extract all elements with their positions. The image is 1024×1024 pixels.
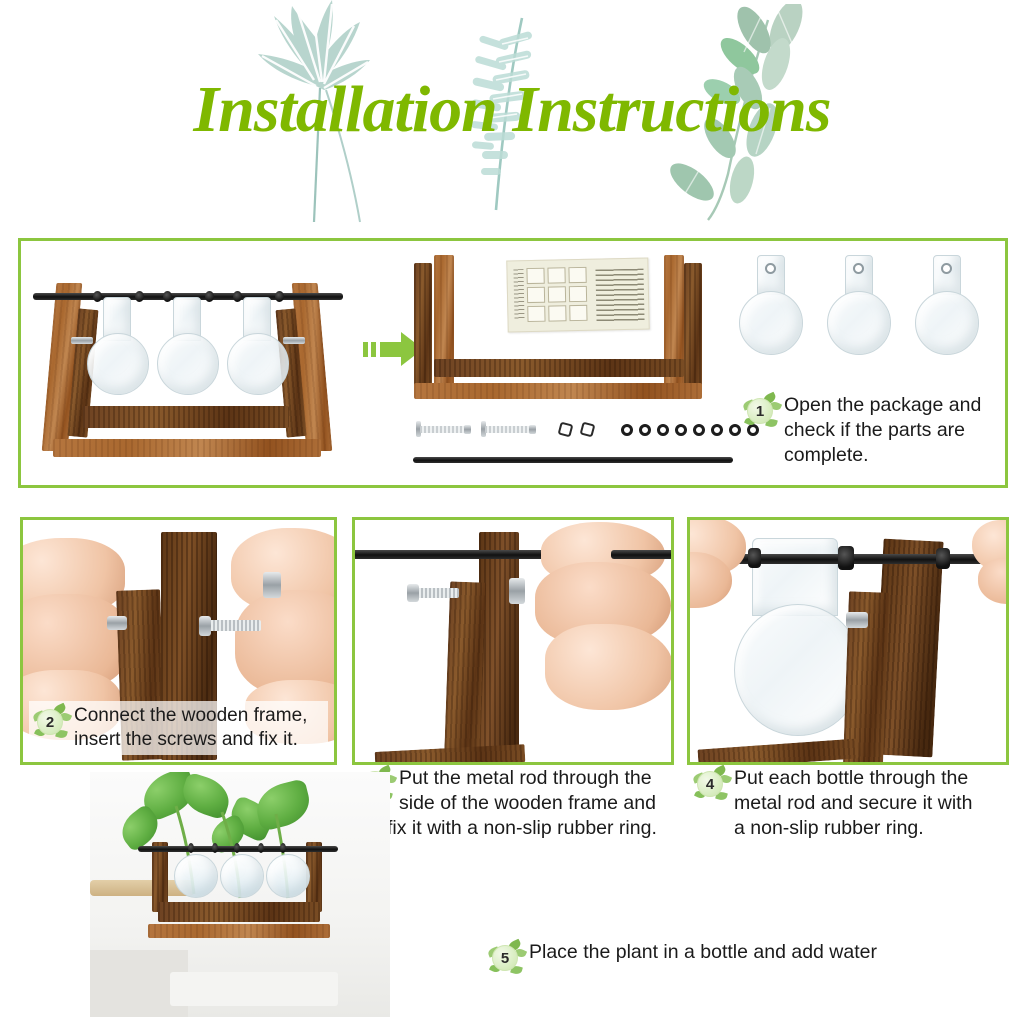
panel-parts-overview: 1 Open the package and check if the part…	[18, 238, 1008, 488]
step-5-text: Place the plant in a bottle and add wate…	[529, 940, 877, 965]
bottle-part	[827, 255, 891, 361]
rubber-ring	[748, 548, 761, 568]
installation-instruction-card	[506, 258, 649, 333]
step-4-photo	[690, 520, 1006, 762]
step-number: 1	[747, 398, 773, 424]
rubber-ring-part	[693, 424, 705, 436]
step-5-caption: 5 Place the plant in a bottle and add wa…	[488, 940, 877, 975]
panel-step-4	[687, 517, 1009, 765]
hardware-parts-row	[416, 417, 726, 445]
rubber-ring	[936, 548, 950, 569]
rubber-ring-part	[621, 424, 633, 436]
leaf-number-badge-icon: 1	[743, 394, 777, 428]
step-number: 2	[37, 709, 63, 735]
step-2-text: Connect the wooden frame, insert the scr…	[74, 704, 307, 752]
assembled-product-illustration	[31, 261, 346, 466]
leaf-number-badge-icon: 4	[693, 767, 727, 801]
nut-part	[558, 422, 574, 438]
leaf-number-badge-icon: 2	[33, 705, 67, 739]
step-3-photo	[355, 520, 671, 762]
step-3-text: Put the metal rod through the side of th…	[399, 766, 657, 841]
rubber-ring	[838, 546, 854, 570]
leaf-number-badge-icon: 5	[488, 941, 522, 975]
step-3-caption: 3 Put the metal rod through the side of …	[358, 766, 678, 841]
page-title: Installation Instructions	[0, 72, 1024, 148]
panel-step-2: 2 Connect the wooden frame, insert the s…	[20, 517, 337, 765]
step-4-text: Put each bottle through the metal rod an…	[734, 766, 972, 841]
rubber-ring-part	[657, 424, 669, 436]
panel-step-3	[352, 517, 674, 765]
rubber-ring-part	[711, 424, 723, 436]
step-5-photo	[90, 772, 390, 1017]
header-banner: Installation Instructions	[0, 0, 1024, 232]
metal-rod	[700, 554, 1009, 564]
step-number: 5	[492, 945, 518, 971]
bottle-part	[915, 255, 979, 361]
rubber-ring-part	[639, 424, 651, 436]
rubber-ring-part	[675, 424, 687, 436]
step-1-text: Open the package and check if the parts …	[784, 393, 981, 468]
step-4-caption: 4 Put each bottle through the metal rod …	[693, 766, 1013, 841]
bottle-part	[739, 255, 803, 361]
step-2-caption: 2 Connect the wooden frame, insert the s…	[29, 701, 328, 755]
metal-rod-part	[413, 457, 733, 463]
step-number: 4	[697, 771, 723, 797]
rubber-ring-part	[729, 424, 741, 436]
nut-part	[580, 422, 596, 438]
step-1-caption: 1 Open the package and check if the part…	[743, 393, 993, 468]
